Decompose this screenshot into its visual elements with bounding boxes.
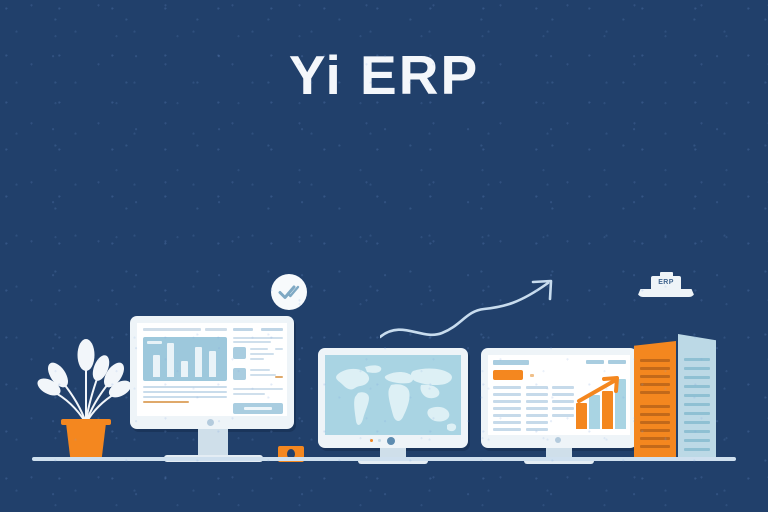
side-thumb — [233, 368, 246, 380]
table-cell — [493, 386, 521, 389]
chart-label — [147, 341, 162, 344]
table-cell — [493, 393, 521, 396]
chart-bar — [181, 361, 188, 377]
chart-bar — [167, 343, 174, 377]
dashboard-title-bar — [143, 328, 201, 331]
monitor-power-dot — [207, 419, 214, 426]
chart-trend-arrow-icon — [576, 375, 628, 405]
world-map-monitor[interactable] — [318, 348, 470, 462]
dashboard-screen — [137, 323, 287, 416]
report-bar-chart — [576, 377, 628, 435]
report-screen — [488, 355, 630, 435]
table-cell — [493, 400, 521, 403]
table-cell — [493, 421, 521, 424]
side-line — [233, 337, 283, 339]
report-accent-dot — [530, 374, 534, 377]
map-screen — [325, 355, 461, 435]
status-dot-blue — [378, 439, 381, 442]
side-line — [250, 369, 270, 371]
dashboard-text-row — [143, 391, 227, 393]
report-header — [586, 360, 604, 364]
dashboard-text-row-accent — [143, 401, 189, 403]
table-cell — [493, 407, 521, 410]
table-cell — [526, 386, 548, 389]
table-cell — [552, 386, 574, 389]
side-line — [275, 348, 283, 350]
chart-bar — [576, 403, 587, 429]
table-cell — [552, 414, 574, 417]
side-line — [250, 348, 268, 350]
page-title: Yi ERP — [0, 48, 768, 103]
monitor-power-dot — [555, 437, 561, 443]
table-cell — [493, 428, 521, 431]
ground-line — [32, 457, 736, 461]
status-dot-orange — [370, 439, 373, 442]
side-line-accent — [275, 376, 283, 378]
chart-bar — [153, 355, 160, 377]
monitor-power-dot — [387, 437, 395, 445]
plant-pot — [63, 421, 109, 459]
side-line — [250, 353, 274, 355]
dashboard-bar-chart — [143, 337, 227, 381]
side-header — [261, 328, 283, 331]
table-cell — [526, 421, 548, 424]
side-thumb — [233, 347, 246, 359]
table-cell — [526, 428, 548, 431]
dashboard-primary-button[interactable] — [233, 403, 283, 414]
table-cell — [526, 400, 548, 403]
report-header — [608, 360, 626, 364]
side-line — [250, 358, 264, 360]
building-blue — [678, 334, 716, 459]
erp-server-icon: ERP — [634, 272, 698, 302]
report-monitor[interactable] — [481, 348, 639, 462]
map-monitor-frame — [318, 348, 468, 448]
table-cell — [552, 407, 574, 410]
report-monitor-frame — [481, 348, 637, 448]
side-line — [233, 341, 271, 343]
double-check-icon — [271, 274, 307, 310]
dashboard-text-row — [143, 386, 227, 388]
potted-plant — [36, 335, 136, 460]
dashboard-text-row — [143, 396, 227, 398]
report-header — [493, 360, 529, 365]
side-line — [250, 374, 276, 376]
side-line — [233, 393, 265, 395]
table-cell — [526, 407, 548, 410]
erp-chip-label: ERP — [651, 279, 681, 286]
side-header — [233, 328, 253, 331]
monitor-neck — [198, 429, 228, 455]
chart-bar — [195, 347, 202, 377]
dashboard-monitor[interactable] — [130, 316, 296, 461]
table-cell — [552, 400, 574, 403]
table-cell — [526, 414, 548, 417]
trending-up-arrow-icon — [380, 275, 570, 345]
erp-chip-base — [637, 289, 695, 297]
dashboard-monitor-frame — [130, 316, 294, 429]
dashboard-title-bar-secondary — [205, 328, 227, 331]
side-line — [233, 388, 283, 390]
building-orange — [634, 341, 676, 459]
table-cell — [526, 393, 548, 396]
chart-bar — [209, 351, 216, 377]
illustration-canvas: Yi ERP ERP — [0, 0, 768, 512]
table-cell — [493, 414, 521, 417]
world-map-icon — [325, 355, 461, 435]
table-cell — [552, 393, 574, 396]
report-highlight-tag[interactable] — [493, 370, 523, 380]
